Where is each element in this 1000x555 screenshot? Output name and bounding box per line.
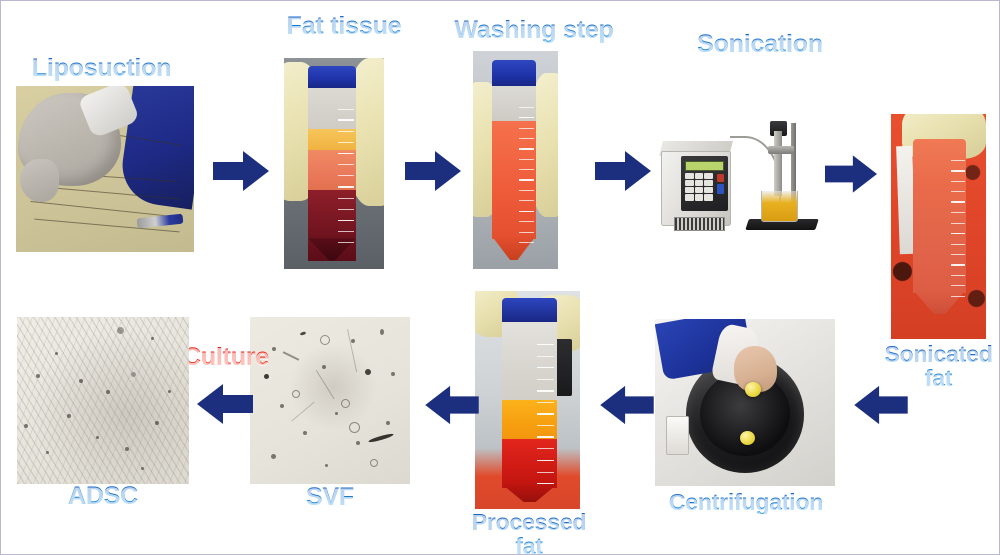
stop-button[interactable] xyxy=(717,174,724,182)
arrow-sonication-to-sonicated xyxy=(825,153,877,195)
cell xyxy=(356,441,360,445)
tube-cone xyxy=(502,484,557,502)
tube-layer-headspace xyxy=(502,322,557,400)
sample-beaker xyxy=(761,191,798,222)
tube-layer-processed-fat xyxy=(502,400,557,440)
cell-nucleus xyxy=(24,424,28,428)
step-image-adsc xyxy=(17,317,189,484)
cell xyxy=(380,329,384,335)
step-image-sonicated-fat xyxy=(891,114,986,339)
cell-nucleus xyxy=(131,372,136,377)
tube-cap-yellow xyxy=(740,431,755,445)
step-image-liposuction xyxy=(16,86,194,252)
cell-nucleus xyxy=(46,451,49,454)
step-label-fat-tissue: Fat tissue xyxy=(269,13,419,39)
arrow-sonicated-to-centrifugation xyxy=(854,384,908,426)
tube-layer-fat xyxy=(308,129,356,150)
keypad xyxy=(685,173,713,201)
tube-cone xyxy=(913,290,966,315)
cell-nucleus xyxy=(55,352,58,355)
cell-ring xyxy=(341,399,350,408)
cell-nucleus xyxy=(79,379,83,383)
tube-body xyxy=(913,139,966,315)
control-slot xyxy=(666,416,690,455)
conical-tube-sonicated xyxy=(913,139,966,315)
cell-nucleus xyxy=(67,414,71,418)
start-button[interactable] xyxy=(717,184,724,194)
step-image-svf xyxy=(250,317,410,484)
step-image-processed-fat xyxy=(475,291,580,509)
tube-layer-air xyxy=(308,88,356,129)
tube-cone xyxy=(492,236,536,260)
step-label-sonication: Sonication xyxy=(675,31,845,57)
cell-nucleus xyxy=(117,327,124,334)
surgeon-thumb xyxy=(20,159,59,202)
tube-layer-washed-fat xyxy=(492,121,536,240)
conical-tube-processed xyxy=(502,298,557,503)
step-label-washing-step: Washing step xyxy=(444,17,624,43)
tube-layer-sonicated-fat xyxy=(913,139,966,293)
step-image-sonication xyxy=(656,113,831,238)
cell xyxy=(271,454,276,459)
tube-body xyxy=(492,86,536,260)
lcd-display xyxy=(685,161,724,172)
arrow-lipo-to-fat xyxy=(213,149,269,193)
tube-cap xyxy=(492,60,536,88)
arrow-washing-to-sonication xyxy=(595,149,651,193)
dark-equipment xyxy=(555,339,572,396)
step-label-processed-fat: Processed fat xyxy=(465,510,593,555)
step-label-adsc: ADSC xyxy=(53,483,153,509)
tube-cap xyxy=(502,298,557,325)
arrow-processed-to-svf xyxy=(425,384,479,426)
cell xyxy=(391,372,395,376)
cell xyxy=(386,421,390,425)
micrograph-field xyxy=(17,317,189,484)
transition-label-culture: Culture xyxy=(174,344,278,370)
conical-tube-fat-tissue xyxy=(308,66,356,260)
vent-grille xyxy=(674,217,725,230)
probe-clamp xyxy=(768,146,794,155)
tube-body xyxy=(502,322,557,502)
arrow-fat-to-washing xyxy=(405,149,461,193)
cell-ring xyxy=(370,459,378,467)
arrow-svf-to-adsc xyxy=(197,382,253,426)
step-label-svf: SVF xyxy=(280,484,380,510)
cell xyxy=(303,431,307,435)
workflow-figure: Liposuction Fat tissue xyxy=(0,0,1000,555)
tube-cap xyxy=(308,66,356,89)
tube-body xyxy=(308,88,356,261)
cell xyxy=(335,412,338,415)
conical-tube-washing xyxy=(492,60,536,261)
cell xyxy=(351,339,355,343)
cell-nucleus xyxy=(155,421,159,425)
step-label-liposuction: Liposuction xyxy=(19,55,184,81)
micrograph-field xyxy=(250,317,410,484)
cell-nucleus xyxy=(96,436,99,439)
cell xyxy=(365,369,371,375)
cell-nucleus xyxy=(36,374,40,378)
step-image-centrifugation xyxy=(655,319,835,486)
step-image-fat-tissue xyxy=(284,58,384,269)
tube-layer-headspace xyxy=(492,86,536,121)
step-image-washing-step xyxy=(473,51,558,269)
tube-layer-lipoaspirate xyxy=(308,150,356,190)
step-label-centrifugation: Centrifugation xyxy=(661,490,831,514)
arrow-centrifugation-to-processed xyxy=(600,384,654,426)
ultrasonic-probe xyxy=(774,131,782,196)
tube-layer-aqueous xyxy=(502,439,557,488)
